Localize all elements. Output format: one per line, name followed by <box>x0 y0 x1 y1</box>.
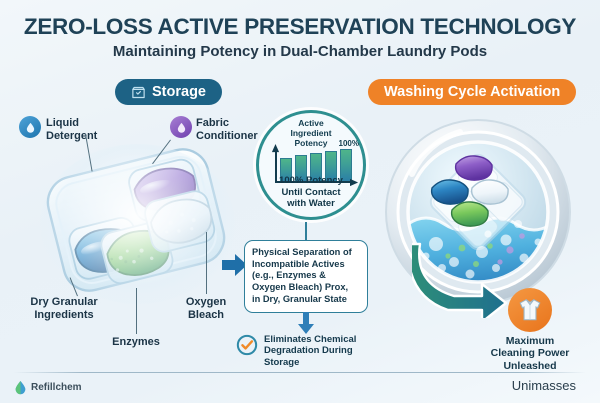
separation-line-2: Incompatible Actives <box>252 259 360 271</box>
storage-badge-label: Storage <box>152 84 206 100</box>
chart-data-label: 100% <box>339 139 359 148</box>
oxygen-bleach-label-l1: Oxygen <box>176 296 236 309</box>
outcome-block: Maximum Cleaning Power Unleashed <box>470 288 590 372</box>
leader-oxygen-bleach <box>206 232 207 294</box>
fabric-conditioner-icon <box>170 116 192 138</box>
box-check-icon <box>131 85 146 100</box>
separation-line-3: (e.g., Enzymes & <box>252 270 360 282</box>
oxygen-bleach-label: Oxygen Bleach <box>176 296 236 322</box>
separation-callout-box: Physical Separation of Incompatible Acti… <box>244 240 368 313</box>
eliminates-degradation-text: Eliminates Chemical Degradation During S… <box>264 334 356 368</box>
arrow-down-icon <box>298 312 314 334</box>
fabric-conditioner-label-l1: Fabric <box>196 117 258 130</box>
droplet-logo-icon <box>14 380 27 395</box>
footer-divider <box>14 372 586 373</box>
chart-caption-l2: Until Contact <box>259 187 363 198</box>
shirt-icon <box>508 288 552 332</box>
separation-line-1: Physical Separation of <box>252 247 360 259</box>
page-subtitle: Maintaining Potency in Dual-Chamber Laun… <box>0 43 600 60</box>
liquid-detergent-label: Liquid Detergent <box>46 117 97 143</box>
chart-caption-l3: with Water <box>259 198 363 209</box>
washing-badge-label: Washing Cycle Activation <box>384 84 560 100</box>
page-title: ZERO-LOSS ACTIVE PRESERVATION TECHNOLOGY <box>0 14 600 40</box>
outcome-line-1: Maximum <box>470 335 590 347</box>
dry-granular-label-l2: Ingredients <box>18 309 110 322</box>
infographic-canvas: ZERO-LOSS ACTIVE PRESERVATION TECHNOLOGY… <box>0 0 600 403</box>
dry-granular-label: Dry Granular Ingredients <box>18 296 110 322</box>
oxygen-bleach-label-l2: Bleach <box>176 309 236 322</box>
outcome-line-3: Unleashed <box>470 360 590 372</box>
chart-caption-l1: 100% Potency <box>259 175 363 186</box>
footer-brand-left: Refillchem <box>14 380 82 395</box>
potency-chart: Active Ingredient Potency 100% 100% Pote… <box>256 110 366 220</box>
eliminates-line-3: Storage <box>264 357 356 368</box>
check-circle-icon <box>236 334 258 356</box>
eliminates-line-1: Eliminates Chemical <box>264 334 356 345</box>
storage-badge[interactable]: Storage <box>115 79 222 105</box>
fabric-conditioner-label: Fabric Conditioner <box>196 117 258 143</box>
outcome-line-2: Cleaning Power <box>470 347 590 359</box>
separation-line-4: Oxygen Bleach) Prox, <box>252 282 360 294</box>
liquid-detergent-icon <box>19 116 41 138</box>
eliminates-degradation-callout: Eliminates Chemical Degradation During S… <box>236 334 374 368</box>
outcome-text: Maximum Cleaning Power Unleashed <box>470 335 590 372</box>
liquid-detergent-label-l2: Detergent <box>46 130 97 143</box>
connector-chart-to-box <box>305 222 307 240</box>
enzymes-label: Enzymes <box>104 336 168 349</box>
chart-caption: 100% Potency Until Contact with Water <box>259 175 363 209</box>
eliminates-line-2: Degradation During <box>264 345 356 356</box>
laundry-pod-illustration <box>32 134 242 309</box>
dry-granular-label-l1: Dry Granular <box>18 296 110 309</box>
fabric-conditioner-label-l2: Conditioner <box>196 130 258 143</box>
chart-axis-arrow-up-icon <box>271 144 280 153</box>
separation-line-5: in Dry, Granular State <box>252 294 360 306</box>
shirt-glyph <box>517 297 543 323</box>
leader-enzymes <box>136 288 137 334</box>
washing-cycle-badge[interactable]: Washing Cycle Activation <box>368 79 576 105</box>
footer-brand-right: Unimasses <box>512 378 576 393</box>
liquid-detergent-label-l1: Liquid <box>46 117 97 130</box>
footer-brand-left-label: Refillchem <box>31 382 82 393</box>
